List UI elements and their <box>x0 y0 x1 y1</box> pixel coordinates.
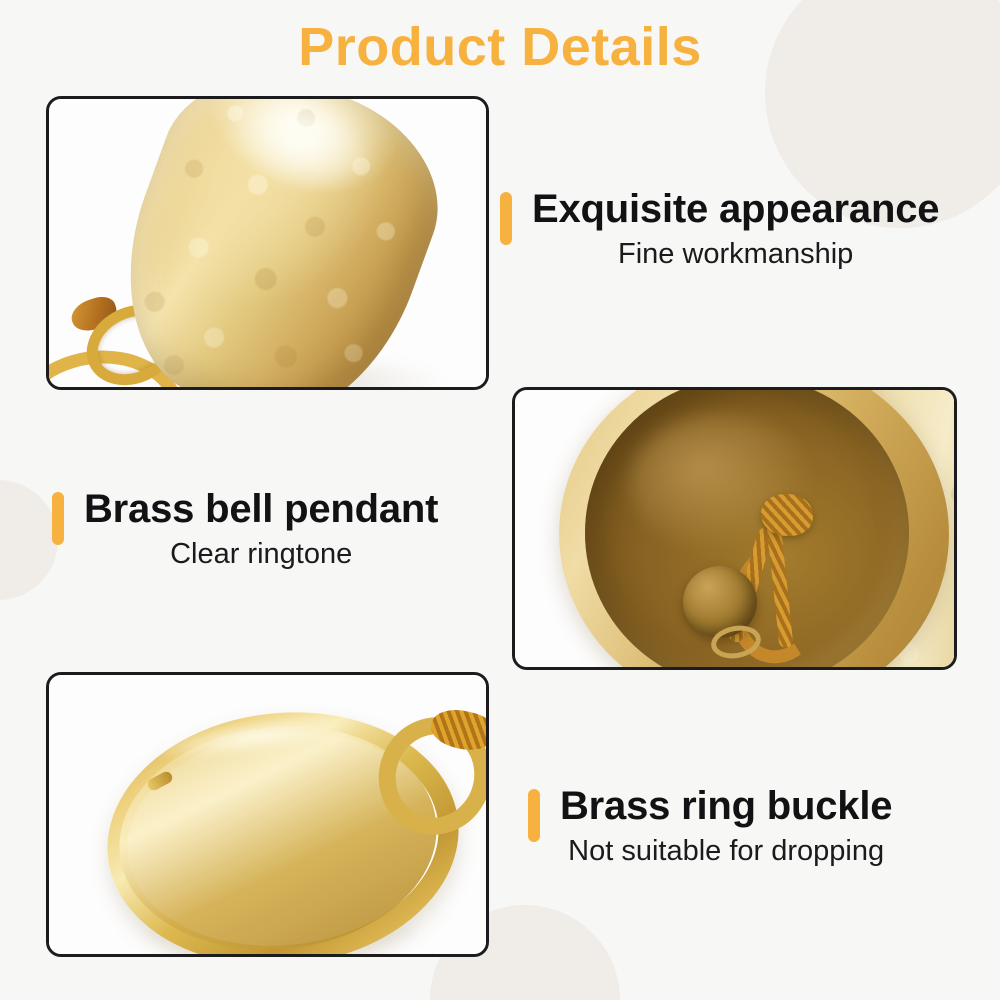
feature-title: Brass bell pendant <box>84 488 438 530</box>
feature-subtitle: Fine workmanship <box>532 237 939 271</box>
photo-stage <box>49 675 486 954</box>
feature-text-group: Exquisite appearance Fine workmanship <box>532 188 939 272</box>
decorative-circle-middle-left <box>0 480 58 600</box>
accent-bar-icon <box>528 789 540 842</box>
page-title: Product Details <box>0 16 1000 80</box>
accent-bar-icon <box>500 192 512 245</box>
product-details-infographic: Product Details <box>0 0 1000 1000</box>
feature-subtitle: Not suitable for dropping <box>560 834 892 868</box>
product-photo-bell-exterior <box>46 96 489 390</box>
feature-title: Exquisite appearance <box>532 188 939 230</box>
feature-exquisite-appearance: Exquisite appearance Fine workmanship <box>500 188 939 272</box>
feature-title: Brass ring buckle <box>560 785 892 827</box>
brass-bell-body <box>87 99 467 387</box>
feature-brass-bell-pendant: Brass bell pendant Clear ringtone <box>52 488 438 572</box>
feature-text-group: Brass bell pendant Clear ringtone <box>84 488 438 572</box>
feature-text-group: Brass ring buckle Not suitable for dropp… <box>560 785 892 869</box>
product-photo-key-ring <box>46 672 489 957</box>
feature-subtitle: Clear ringtone <box>84 537 438 571</box>
product-photo-bell-interior <box>512 387 957 670</box>
braided-cord-knot <box>761 494 813 536</box>
photo-stage <box>49 99 486 387</box>
feature-brass-ring-buckle: Brass ring buckle Not suitable for dropp… <box>528 785 892 869</box>
accent-bar-icon <box>52 492 64 545</box>
photo-stage <box>515 390 954 667</box>
